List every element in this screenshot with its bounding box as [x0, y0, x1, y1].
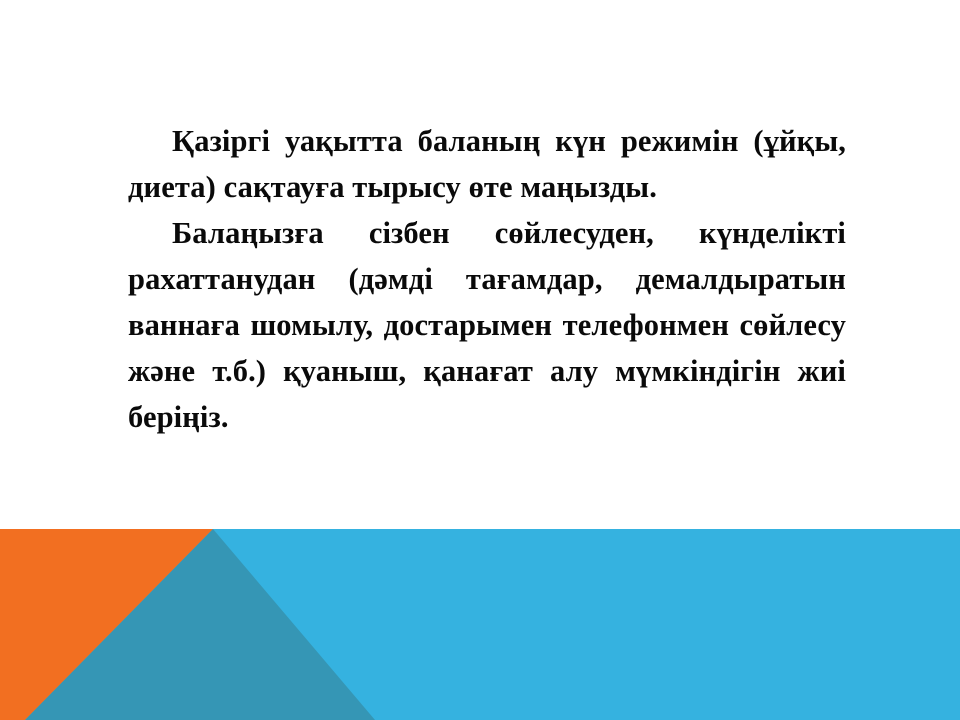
slide-canvas: Қазіргі уақытта баланың күн режимін (ұйқ… [0, 0, 960, 720]
paragraph-1: Қазіргі уақытта баланың күн режимін (ұйқ… [128, 118, 846, 210]
paragraph-2: Балаңызға сізбен сөйлесуден, күнделікті … [128, 210, 846, 440]
decorative-triangles-graphic [0, 529, 960, 720]
slide-body-text: Қазіргі уақытта баланың күн режимін (ұйқ… [128, 118, 846, 440]
bottom-color-band [0, 529, 960, 720]
